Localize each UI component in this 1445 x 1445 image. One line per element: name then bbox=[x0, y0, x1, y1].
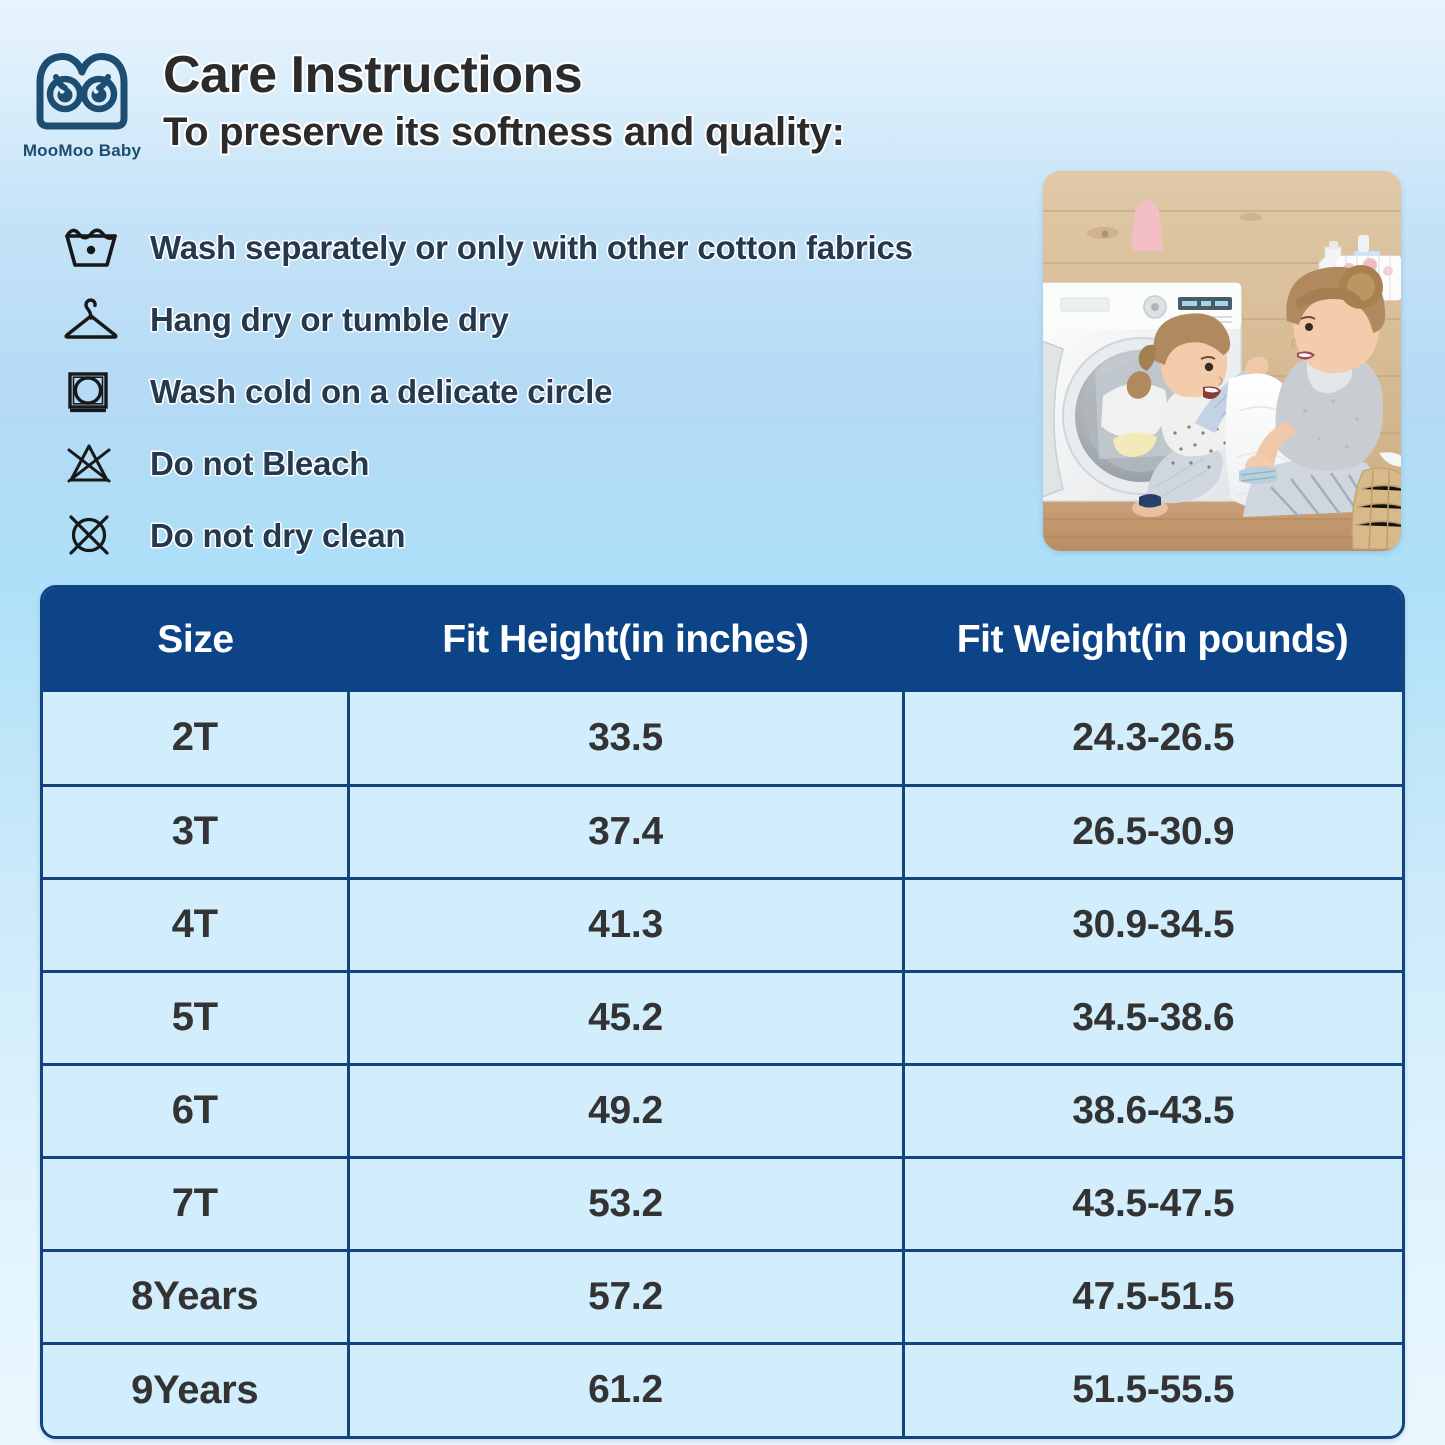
cell-size: 3T bbox=[43, 785, 348, 878]
list-item: Wash separately or only with other cotto… bbox=[62, 212, 1042, 284]
list-item: Do not dry clean bbox=[62, 500, 1042, 572]
cell-height: 37.4 bbox=[348, 785, 903, 878]
list-item: Do not Bleach bbox=[62, 428, 1042, 500]
wash-tub-icon bbox=[62, 225, 126, 271]
cell-weight: 34.5-38.6 bbox=[903, 971, 1402, 1064]
list-item-label: Wash separately or only with other cotto… bbox=[150, 229, 913, 267]
column-header-weight: Fit Weight(in pounds) bbox=[903, 588, 1402, 692]
cell-size: 9Years bbox=[43, 1343, 348, 1436]
clothes-hanger-icon bbox=[62, 297, 126, 343]
cell-height: 61.2 bbox=[348, 1343, 903, 1436]
page-header: MooMoo Baby Care Instructions To preserv… bbox=[0, 0, 1445, 180]
laundry-photo bbox=[1043, 171, 1401, 551]
owl-logo-icon bbox=[22, 52, 142, 139]
cell-weight: 38.6-43.5 bbox=[903, 1064, 1402, 1157]
table-row: 8Years 57.2 47.5-51.5 bbox=[43, 1250, 1402, 1343]
list-item: Wash cold on a delicate circle bbox=[62, 356, 1042, 428]
table-row: 4T 41.3 30.9-34.5 bbox=[43, 878, 1402, 971]
brand-logo: MooMoo Baby bbox=[22, 52, 142, 161]
cell-height: 41.3 bbox=[348, 878, 903, 971]
list-item: Hang dry or tumble dry bbox=[62, 284, 1042, 356]
table-header-row: Size Fit Height(in inches) Fit Weight(in… bbox=[43, 588, 1402, 692]
care-instructions-list: Wash separately or only with other cotto… bbox=[62, 212, 1042, 572]
cell-weight: 43.5-47.5 bbox=[903, 1157, 1402, 1250]
cell-size: 4T bbox=[43, 878, 348, 971]
table-row: 3T 37.4 26.5-30.9 bbox=[43, 785, 1402, 878]
cell-weight: 51.5-55.5 bbox=[903, 1343, 1402, 1436]
cell-size: 8Years bbox=[43, 1250, 348, 1343]
cell-height: 45.2 bbox=[348, 971, 903, 1064]
table-row: 9Years 61.2 51.5-55.5 bbox=[43, 1343, 1402, 1436]
cell-height: 57.2 bbox=[348, 1250, 903, 1343]
list-item-label: Hang dry or tumble dry bbox=[150, 301, 509, 339]
page-title: Care Instructions bbox=[163, 47, 845, 104]
cell-size: 2T bbox=[43, 692, 348, 785]
list-item-label: Wash cold on a delicate circle bbox=[150, 373, 612, 411]
cell-size: 6T bbox=[43, 1064, 348, 1157]
cell-weight: 24.3-26.5 bbox=[903, 692, 1402, 785]
brand-wordmark: MooMoo Baby bbox=[22, 141, 142, 161]
column-header-height: Fit Height(in inches) bbox=[348, 588, 903, 692]
size-chart-table: Size Fit Height(in inches) Fit Weight(in… bbox=[40, 585, 1405, 1439]
cell-size: 7T bbox=[43, 1157, 348, 1250]
title-block: Care Instructions To preserve its softne… bbox=[163, 47, 845, 154]
list-item-label: Do not dry clean bbox=[150, 517, 405, 555]
cell-size: 5T bbox=[43, 971, 348, 1064]
cell-weight: 47.5-51.5 bbox=[903, 1250, 1402, 1343]
table-row: 7T 53.2 43.5-47.5 bbox=[43, 1157, 1402, 1250]
page-subtitle: To preserve its softness and quality: bbox=[163, 110, 845, 154]
table-row: 5T 45.2 34.5-38.6 bbox=[43, 971, 1402, 1064]
table-row: 6T 49.2 38.6-43.5 bbox=[43, 1064, 1402, 1157]
cell-height: 33.5 bbox=[348, 692, 903, 785]
column-header-size: Size bbox=[43, 588, 348, 692]
cell-weight: 30.9-34.5 bbox=[903, 878, 1402, 971]
do-not-dry-clean-icon bbox=[62, 513, 126, 559]
cell-height: 53.2 bbox=[348, 1157, 903, 1250]
table-row: 2T 33.5 24.3-26.5 bbox=[43, 692, 1402, 785]
do-not-bleach-icon bbox=[62, 441, 126, 487]
cell-height: 49.2 bbox=[348, 1064, 903, 1157]
list-item-label: Do not Bleach bbox=[150, 445, 369, 483]
tumble-dry-square-icon bbox=[62, 369, 126, 415]
cell-weight: 26.5-30.9 bbox=[903, 785, 1402, 878]
